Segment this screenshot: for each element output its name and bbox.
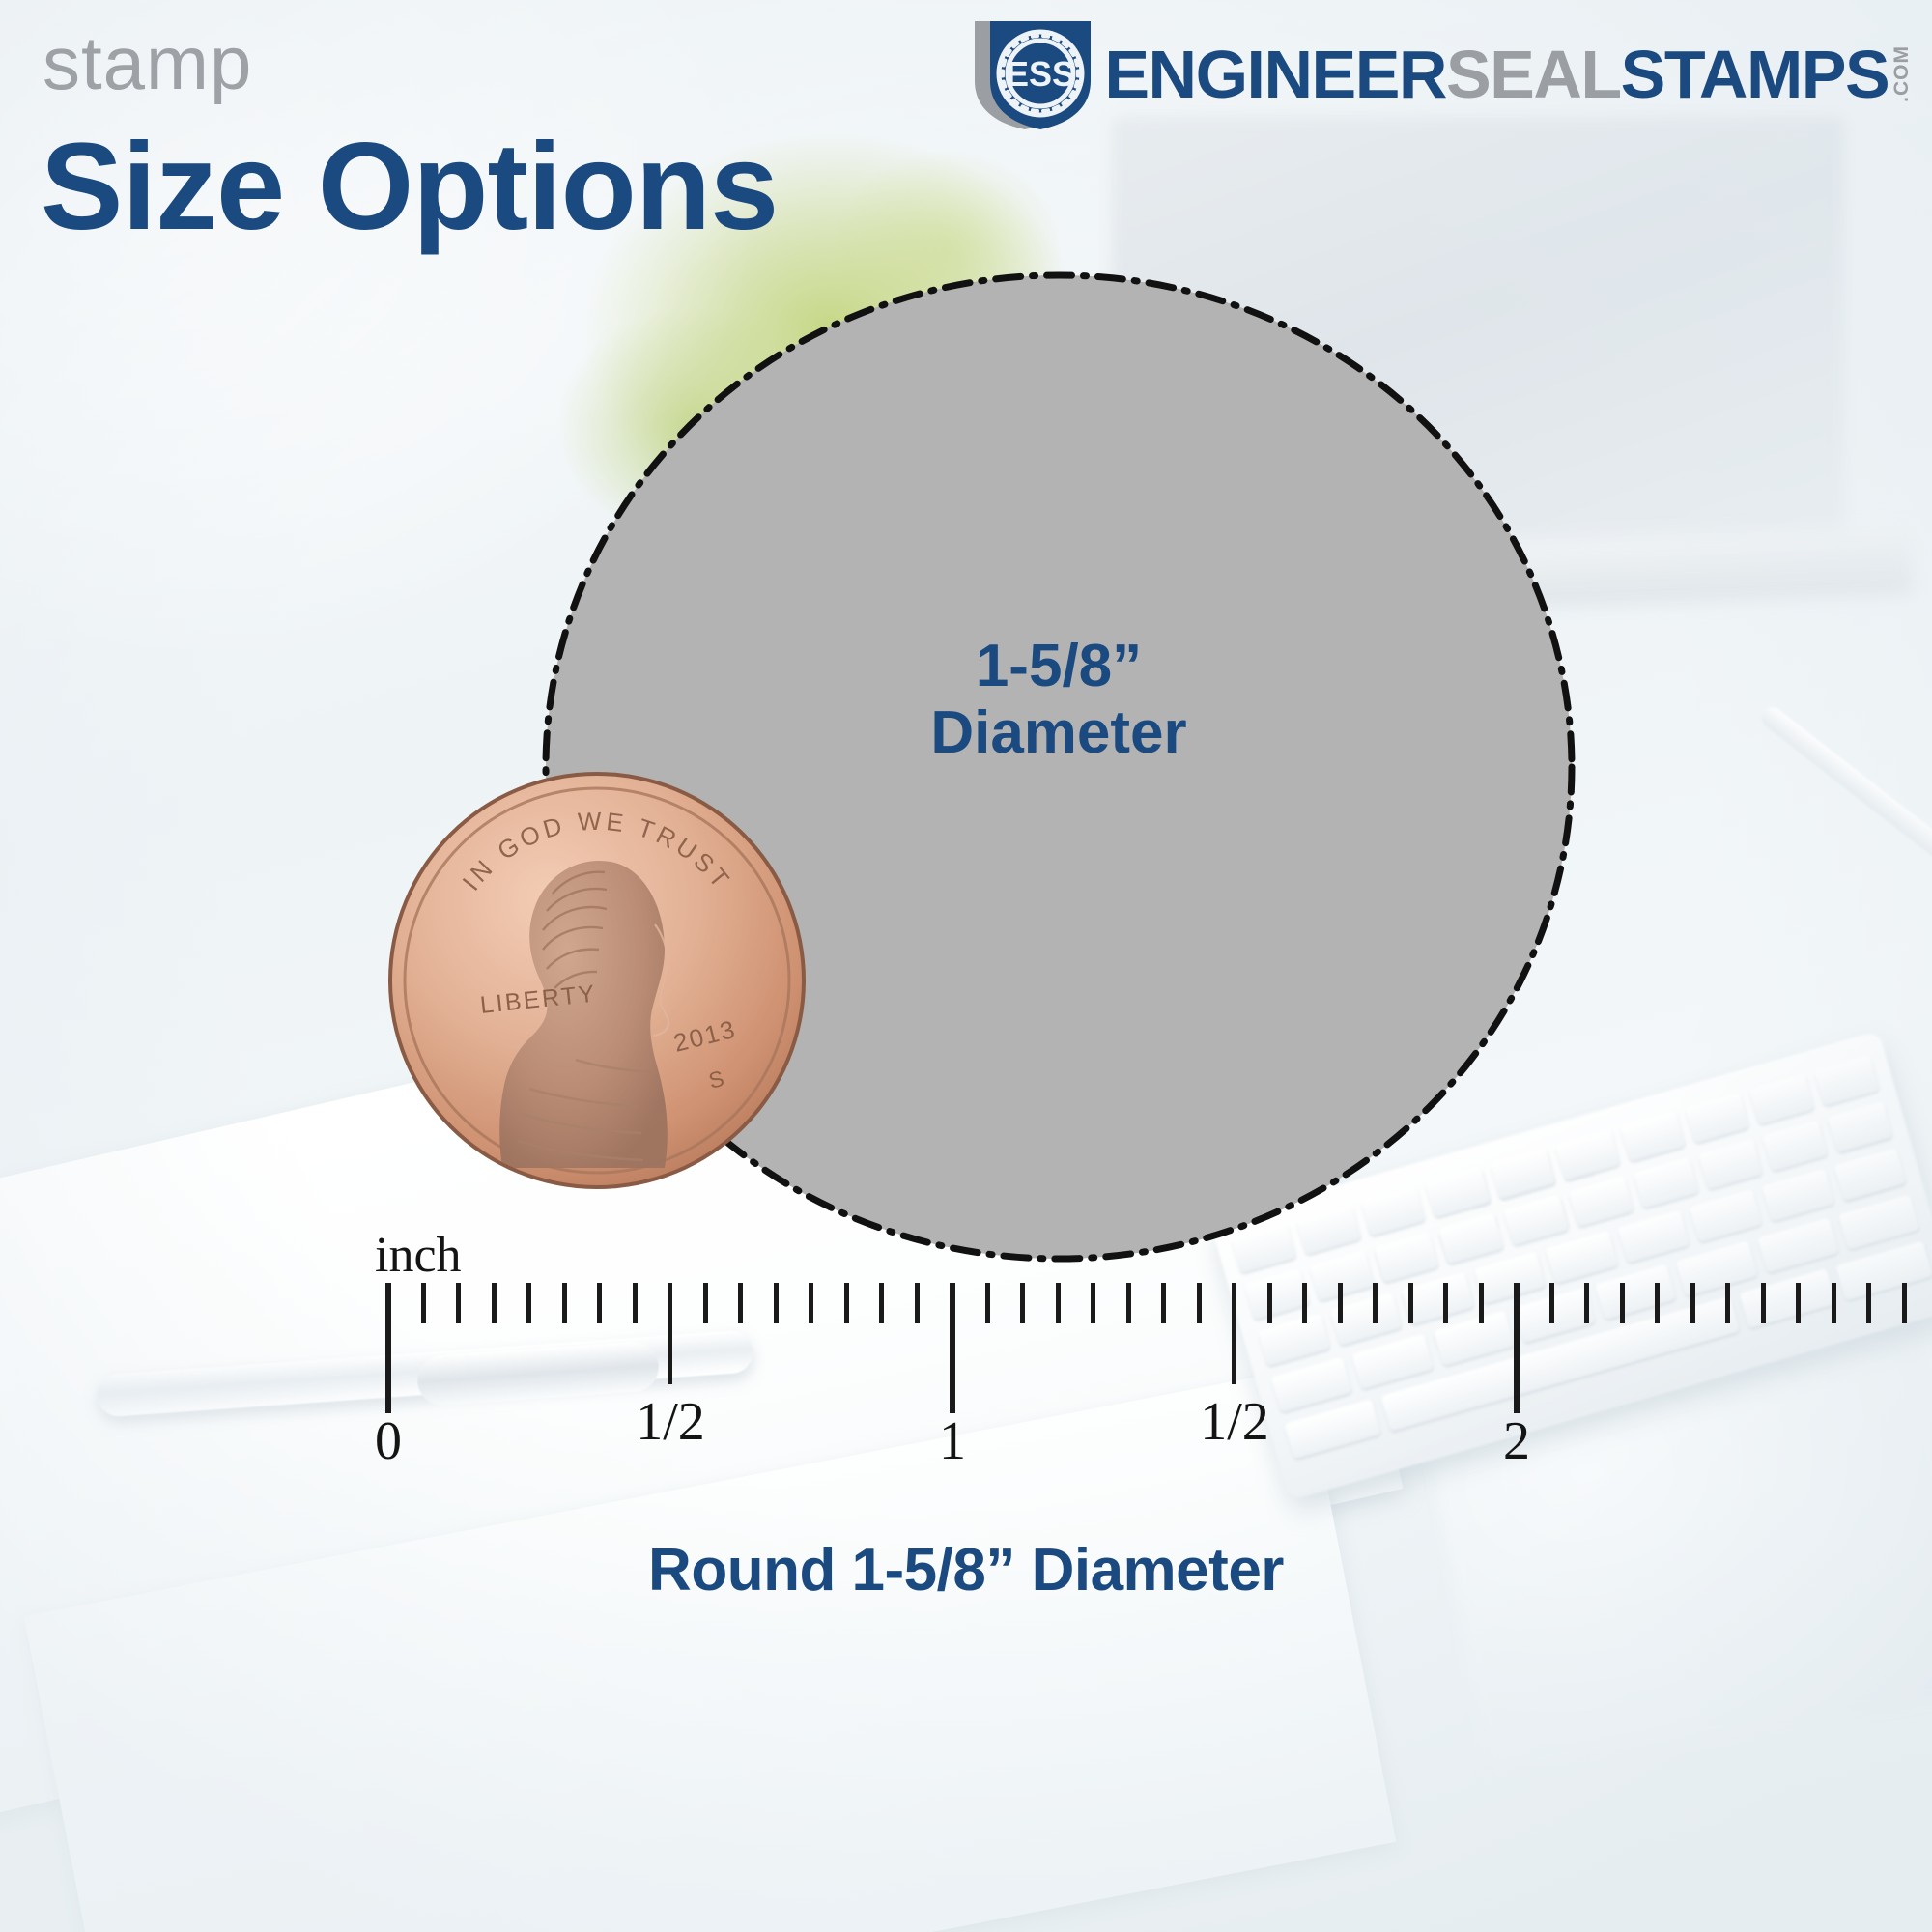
ruler-tick	[985, 1283, 990, 1323]
page-title: Size Options	[41, 126, 778, 249]
logo-word-engineer: ENGINEER	[1104, 46, 1446, 104]
ruler-tick	[492, 1283, 497, 1323]
ruler-tick	[1408, 1283, 1413, 1323]
ruler-tick-label: 1/2	[1200, 1391, 1269, 1453]
ruler-tick	[1584, 1283, 1589, 1323]
ruler-tick	[1020, 1283, 1025, 1323]
ruler-tick	[1091, 1283, 1095, 1323]
ruler-tick	[456, 1283, 461, 1323]
stamp-size-label: 1-5/8” Diameter	[546, 633, 1572, 767]
ruler-tick	[562, 1283, 567, 1323]
ruler-tick	[809, 1283, 813, 1323]
ruler-tick	[1056, 1283, 1061, 1323]
ruler-tick	[1866, 1283, 1871, 1323]
ruler-tick	[1761, 1283, 1766, 1323]
ess-shield-gear-icon: ESS	[965, 17, 1091, 131]
ruler-tick	[1832, 1283, 1836, 1323]
svg-text:ESS: ESS	[1006, 54, 1075, 94]
ruler-tick-label: 1	[939, 1410, 966, 1472]
size-options-graphic: stamp Size Options ESS ENGINEERSEALSTAMP…	[0, 0, 1932, 1932]
ruler-tick	[1902, 1283, 1907, 1323]
penny-coin: IN GOD WE TRUST LIBERTY 2013 S	[386, 770, 809, 1192]
ruler-tick	[950, 1283, 955, 1413]
stamp-size-unit-word: Diameter	[546, 699, 1572, 766]
logo-word-seal: SEAL	[1446, 46, 1621, 104]
ruler-tick-label: 1/2	[636, 1391, 705, 1453]
ruler-tick	[774, 1283, 779, 1323]
ruler-tick	[1267, 1283, 1272, 1323]
ruler-tick	[1232, 1283, 1236, 1384]
ruler-tick	[385, 1283, 391, 1413]
ruler-tick	[1690, 1283, 1695, 1323]
ruler: inch 01/211/22	[0, 1227, 1932, 1517]
ruler-tick	[738, 1283, 743, 1323]
ruler-tick	[703, 1283, 708, 1323]
ruler-tick	[1126, 1283, 1131, 1323]
ruler-tick	[1655, 1283, 1660, 1323]
ruler-unit-label: inch	[375, 1227, 462, 1284]
ruler-tick	[1725, 1283, 1730, 1323]
ess-logo[interactable]: ESS ENGINEERSEALSTAMPS .COM	[965, 17, 1911, 131]
ruler-tick	[633, 1283, 638, 1323]
ruler-tick	[1514, 1283, 1520, 1413]
ruler-tick	[1796, 1283, 1801, 1323]
ruler-tick	[879, 1283, 884, 1323]
ruler-tick	[1302, 1283, 1307, 1323]
ruler-tick-label: 0	[375, 1410, 402, 1472]
ruler-tick	[915, 1283, 920, 1323]
ess-logo-wordmark: ENGINEERSEALSTAMPS .COM	[1104, 45, 1911, 104]
ruler-tick	[1161, 1283, 1166, 1323]
logo-word-stamps: STAMPS	[1621, 46, 1889, 104]
ruler-tick	[421, 1283, 426, 1323]
ruler-tick-label: 2	[1503, 1410, 1530, 1472]
ruler-tick	[1479, 1283, 1484, 1323]
ruler-tick	[844, 1283, 849, 1323]
ruler-tick	[597, 1283, 602, 1323]
size-caption: Round 1-5/8” Diameter	[0, 1536, 1932, 1605]
ruler-tick	[526, 1283, 531, 1323]
ruler-tick	[1373, 1283, 1378, 1323]
ruler-tick	[1197, 1283, 1202, 1323]
ruler-tick	[1443, 1283, 1448, 1323]
stamp-size-measure: 1-5/8”	[976, 633, 1142, 699]
ruler-tick	[668, 1283, 672, 1384]
ruler-tick	[1620, 1283, 1625, 1323]
logo-word-dotcom: .COM	[1893, 45, 1911, 102]
ruler-tick	[1338, 1283, 1343, 1323]
brand-word: stamp	[43, 25, 252, 100]
ruler-tick	[1549, 1283, 1554, 1323]
